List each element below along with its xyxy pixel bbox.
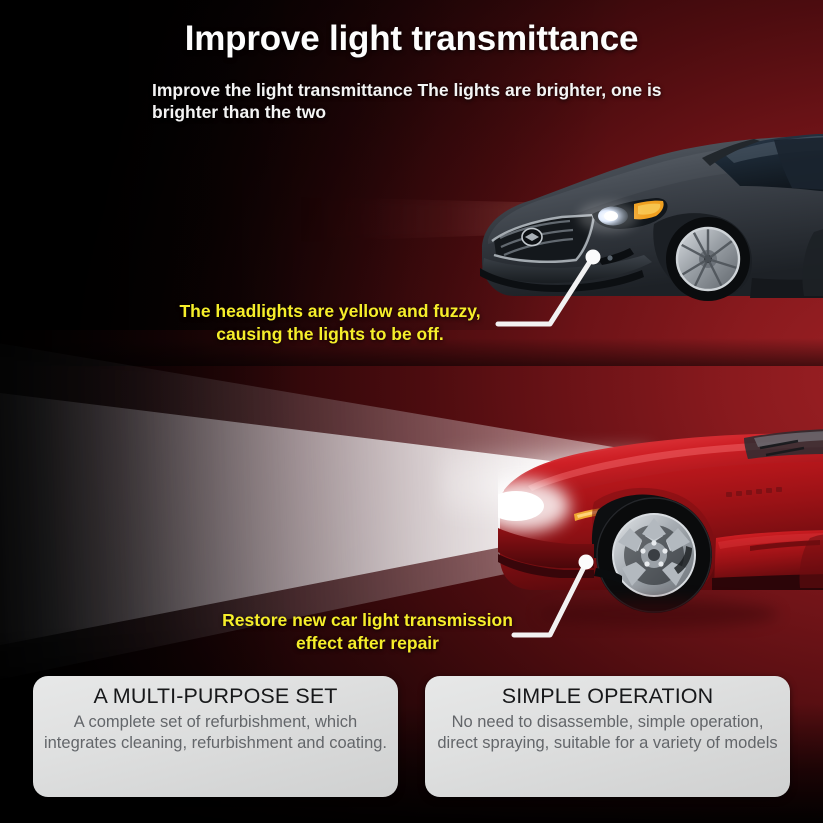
feature-card-title: A MULTI-PURPOSE SET — [43, 685, 388, 709]
page-title: Improve light transmittance — [0, 19, 823, 59]
product-poster: Improve light transmittance Improve the … — [0, 0, 823, 823]
feature-card-simple-operation: SIMPLE OPERATION No need to disassemble,… — [425, 676, 790, 797]
feature-card-body: No need to disassemble, simple operation… — [435, 712, 780, 755]
feature-card-multi-purpose: A MULTI-PURPOSE SET A complete set of re… — [33, 676, 398, 797]
leader-line-after — [508, 551, 608, 647]
callout-after: Restore new car light transmission effec… — [215, 609, 520, 656]
callout-before: The headlights are yellow and fuzzy, cau… — [150, 300, 510, 347]
page-subtitle: Improve the light transmittance The ligh… — [152, 80, 697, 123]
feature-card-title: SIMPLE OPERATION — [435, 685, 780, 709]
feature-cards: A MULTI-PURPOSE SET A complete set of re… — [33, 676, 790, 797]
feature-card-body: A complete set of refurbishment, which i… — [43, 712, 388, 755]
leader-line-before — [492, 246, 612, 338]
